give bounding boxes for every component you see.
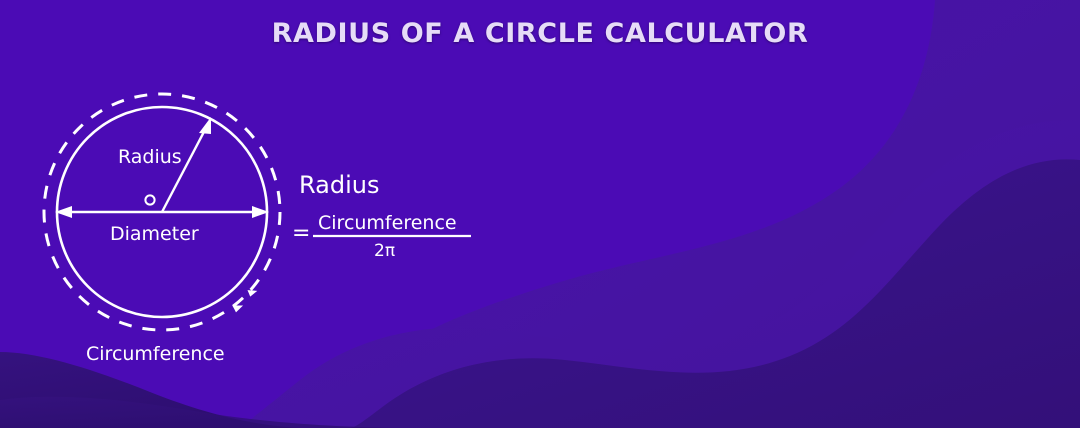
formula-denominator: 2π (374, 241, 395, 261)
circle-diagram: Radius Diameter Circumference Radius = C… (0, 0, 1080, 428)
radius-label: Radius (118, 146, 182, 168)
formula-numerator: Circumference (318, 212, 457, 234)
formula-equals-sign: = (292, 221, 310, 246)
circumference-direction-arrowheads (230, 287, 257, 314)
center-point-marker (145, 195, 154, 204)
banner-root: RADIUS OF A CIRCLE CALCULATOR Radius Dia… (0, 0, 1080, 428)
radius-arrowhead (199, 117, 211, 134)
radius-line (162, 126, 207, 212)
diameter-label: Diameter (110, 223, 199, 245)
circumference-label: Circumference (86, 343, 225, 365)
formula-result-label: Radius (299, 171, 379, 199)
